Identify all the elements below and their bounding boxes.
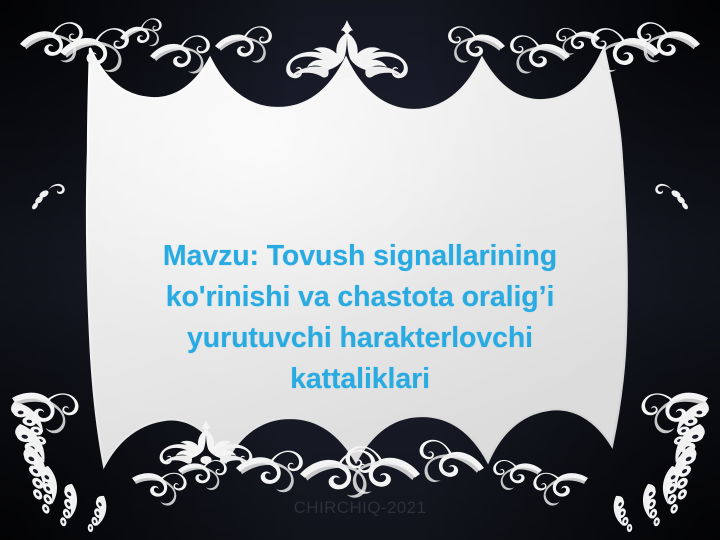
scroll-flourish-ornament-top-left-inner	[150, 35, 210, 73]
small-floral-accent-left	[31, 184, 65, 211]
title-line-3: yurutuvchi harakterlovchi	[108, 318, 612, 359]
footer-text: CHIRCHIQ-2021	[0, 498, 720, 518]
slide-title: Mavzu: Tovush signallarining ko'rinishi …	[108, 236, 612, 400]
title-line-4: kattaliklari	[108, 359, 612, 400]
scroll-flourish-ornament-top-left-mid	[215, 26, 272, 62]
title-line-1: Mavzu: Tovush signallarining	[108, 236, 612, 277]
title-slide: Mavzu: Tovush signallarining ko'rinishi …	[0, 0, 720, 540]
scroll-flourish-ornament-bottom-center-right	[416, 438, 486, 487]
scroll-flourish-ornament-bottom-center-left	[234, 445, 304, 494]
scroll-flourish-ornament-top-right-mid	[448, 26, 505, 62]
scroll-flourish-ornament-bottom-center	[299, 448, 376, 498]
small-floral-accent-right	[655, 184, 689, 211]
damask-crown-ornament	[286, 20, 408, 78]
title-line-2: ko'rinishi va chastota oralig’i	[108, 277, 612, 318]
